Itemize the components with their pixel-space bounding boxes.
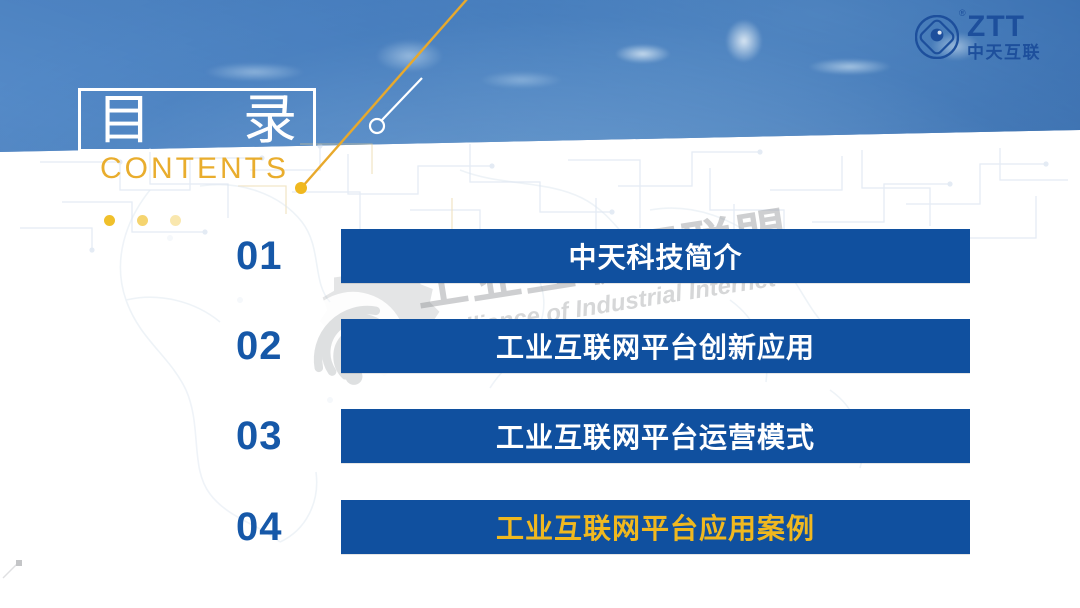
contents-label-04: 工业互联网平台应用案例 (496, 507, 815, 547)
contents-label-02: 工业互联网平台创新应用 (496, 326, 815, 366)
decorative-dots (104, 215, 181, 226)
dot-1 (104, 215, 115, 226)
contents-label: CONTENTS (100, 152, 289, 186)
contents-item-02[interactable]: 02 工业互联网平台创新应用 (236, 319, 970, 373)
ztt-logo: ZTT ® 中天互联 (915, 12, 1041, 62)
page-title-char-1: 目 (97, 93, 151, 147)
dot-2 (137, 215, 148, 226)
contents-label-01: 中天科技简介 (568, 236, 742, 276)
page-title-box: 目 录 (78, 88, 316, 152)
logo-wordmark: ZTT (967, 10, 1025, 43)
corner-mark-icon (2, 558, 24, 580)
registered-mark: ® (959, 9, 966, 18)
contents-number-01: 01 (236, 236, 341, 276)
contents-number-03: 03 (236, 416, 341, 456)
contents-item-04[interactable]: 04 工业互联网平台应用案例 (236, 500, 970, 554)
contents-bar-04[interactable]: 工业互联网平台应用案例 (341, 500, 970, 554)
logo-wordmark-cn: 中天互联 (967, 45, 1041, 62)
contents-bar-01[interactable]: 中天科技简介 (341, 229, 970, 283)
contents-item-01[interactable]: 01 中天科技简介 (236, 229, 970, 283)
contents-item-03[interactable]: 03 工业互联网平台运营模式 (236, 409, 970, 463)
contents-bar-02[interactable]: 工业互联网平台创新应用 (341, 319, 970, 373)
presentation-slide: 工业互联网联盟 Alliance of Industrial Internet … (0, 0, 1080, 608)
page-title-char-2: 录 (243, 93, 297, 147)
contents-number-04: 04 (236, 507, 341, 547)
ztt-diamond-mark-icon (915, 15, 959, 59)
dot-3 (170, 215, 181, 226)
contents-bar-03[interactable]: 工业互联网平台运营模式 (341, 409, 970, 463)
contents-number-02: 02 (236, 326, 341, 366)
contents-label-03: 工业互联网平台运营模式 (496, 416, 815, 456)
